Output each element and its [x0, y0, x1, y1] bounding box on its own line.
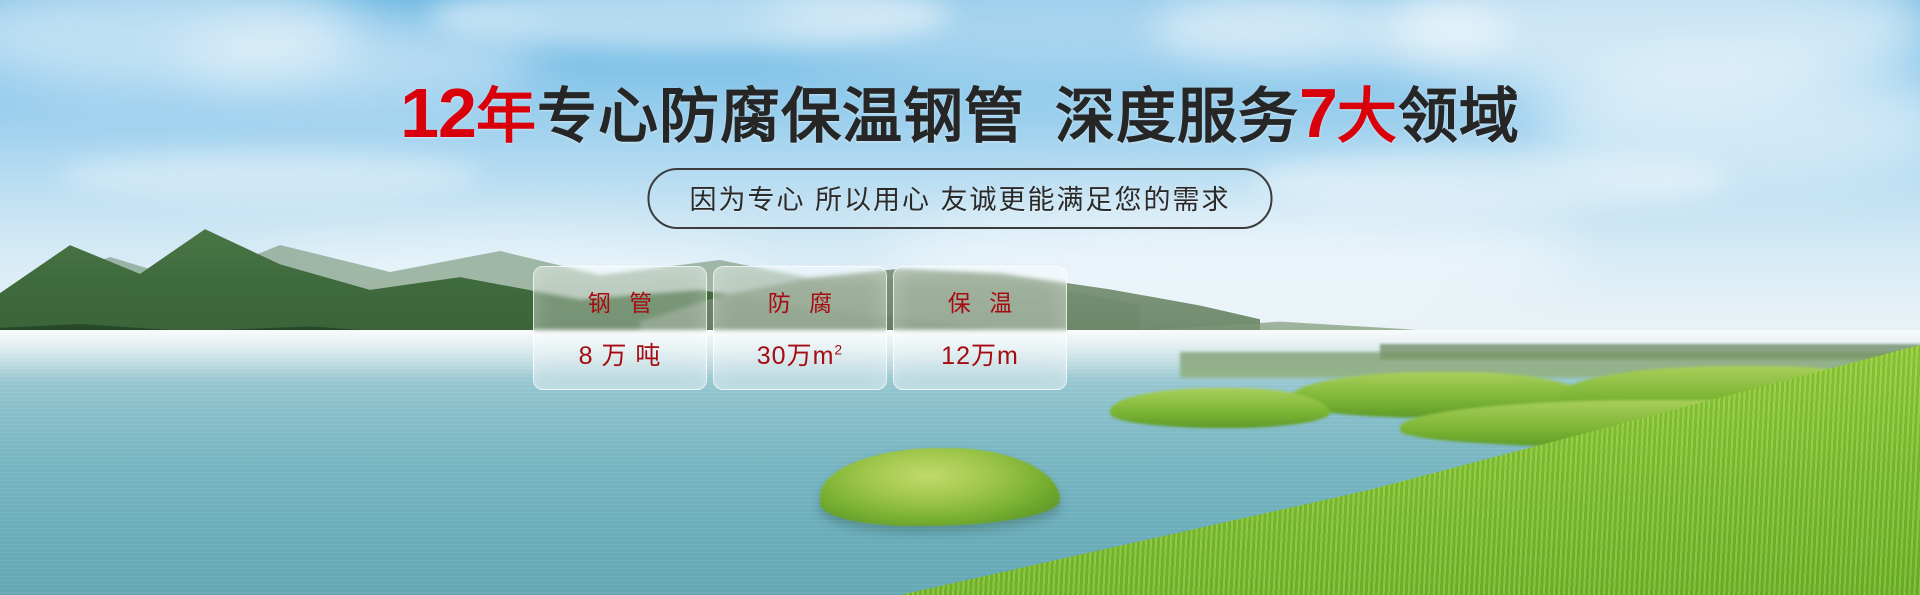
stat-card-value-text: 8 万 吨	[579, 342, 662, 370]
stat-card-label: 保 温	[942, 284, 1018, 318]
stat-card-label: 防 腐	[762, 284, 838, 318]
headline-main-text: 专心防腐保温钢管	[537, 83, 1025, 150]
headline-fields-unit: 大	[1337, 83, 1398, 150]
stat-card-label: 钢 管	[582, 284, 658, 318]
stat-card-value-superscript: 2	[834, 342, 843, 358]
headline-service-text: 深度服务	[1055, 83, 1299, 150]
stat-card-value-text: 12万m	[941, 342, 1019, 370]
headline-fields-number: 7	[1299, 74, 1337, 152]
headline-years-number: 12	[400, 74, 476, 152]
stat-card-value-text: 30万m	[757, 342, 835, 370]
page-title: 12年专心防腐保温钢管深度服务7大领域	[0, 78, 1920, 148]
headline-fields-text: 领域	[1398, 83, 1520, 150]
stat-card-insulation: 保 温 12万m	[893, 266, 1067, 390]
cloud-icon	[60, 150, 480, 200]
stat-card-value: 30万m2	[757, 336, 843, 372]
hero-banner: 12年专心防腐保温钢管深度服务7大领域 因为专心 所以用心 友诚更能满足您的需求…	[0, 0, 1920, 595]
stat-card-steel-pipe: 钢 管 8 万 吨	[533, 266, 707, 390]
headline-years-unit: 年	[476, 83, 537, 150]
subtitle-pill: 因为专心 所以用心 友诚更能满足您的需求	[647, 168, 1272, 229]
marsh-patch	[1110, 388, 1330, 428]
stat-card-list: 钢 管 8 万 吨 防 腐 30万m2 保 温 12万m	[533, 266, 1067, 390]
stat-card-value: 12万m	[941, 336, 1019, 372]
far-treeline	[1380, 344, 1920, 360]
stat-card-value: 8 万 吨	[579, 336, 662, 372]
stat-card-anticorrosion: 防 腐 30万m2	[713, 266, 887, 390]
